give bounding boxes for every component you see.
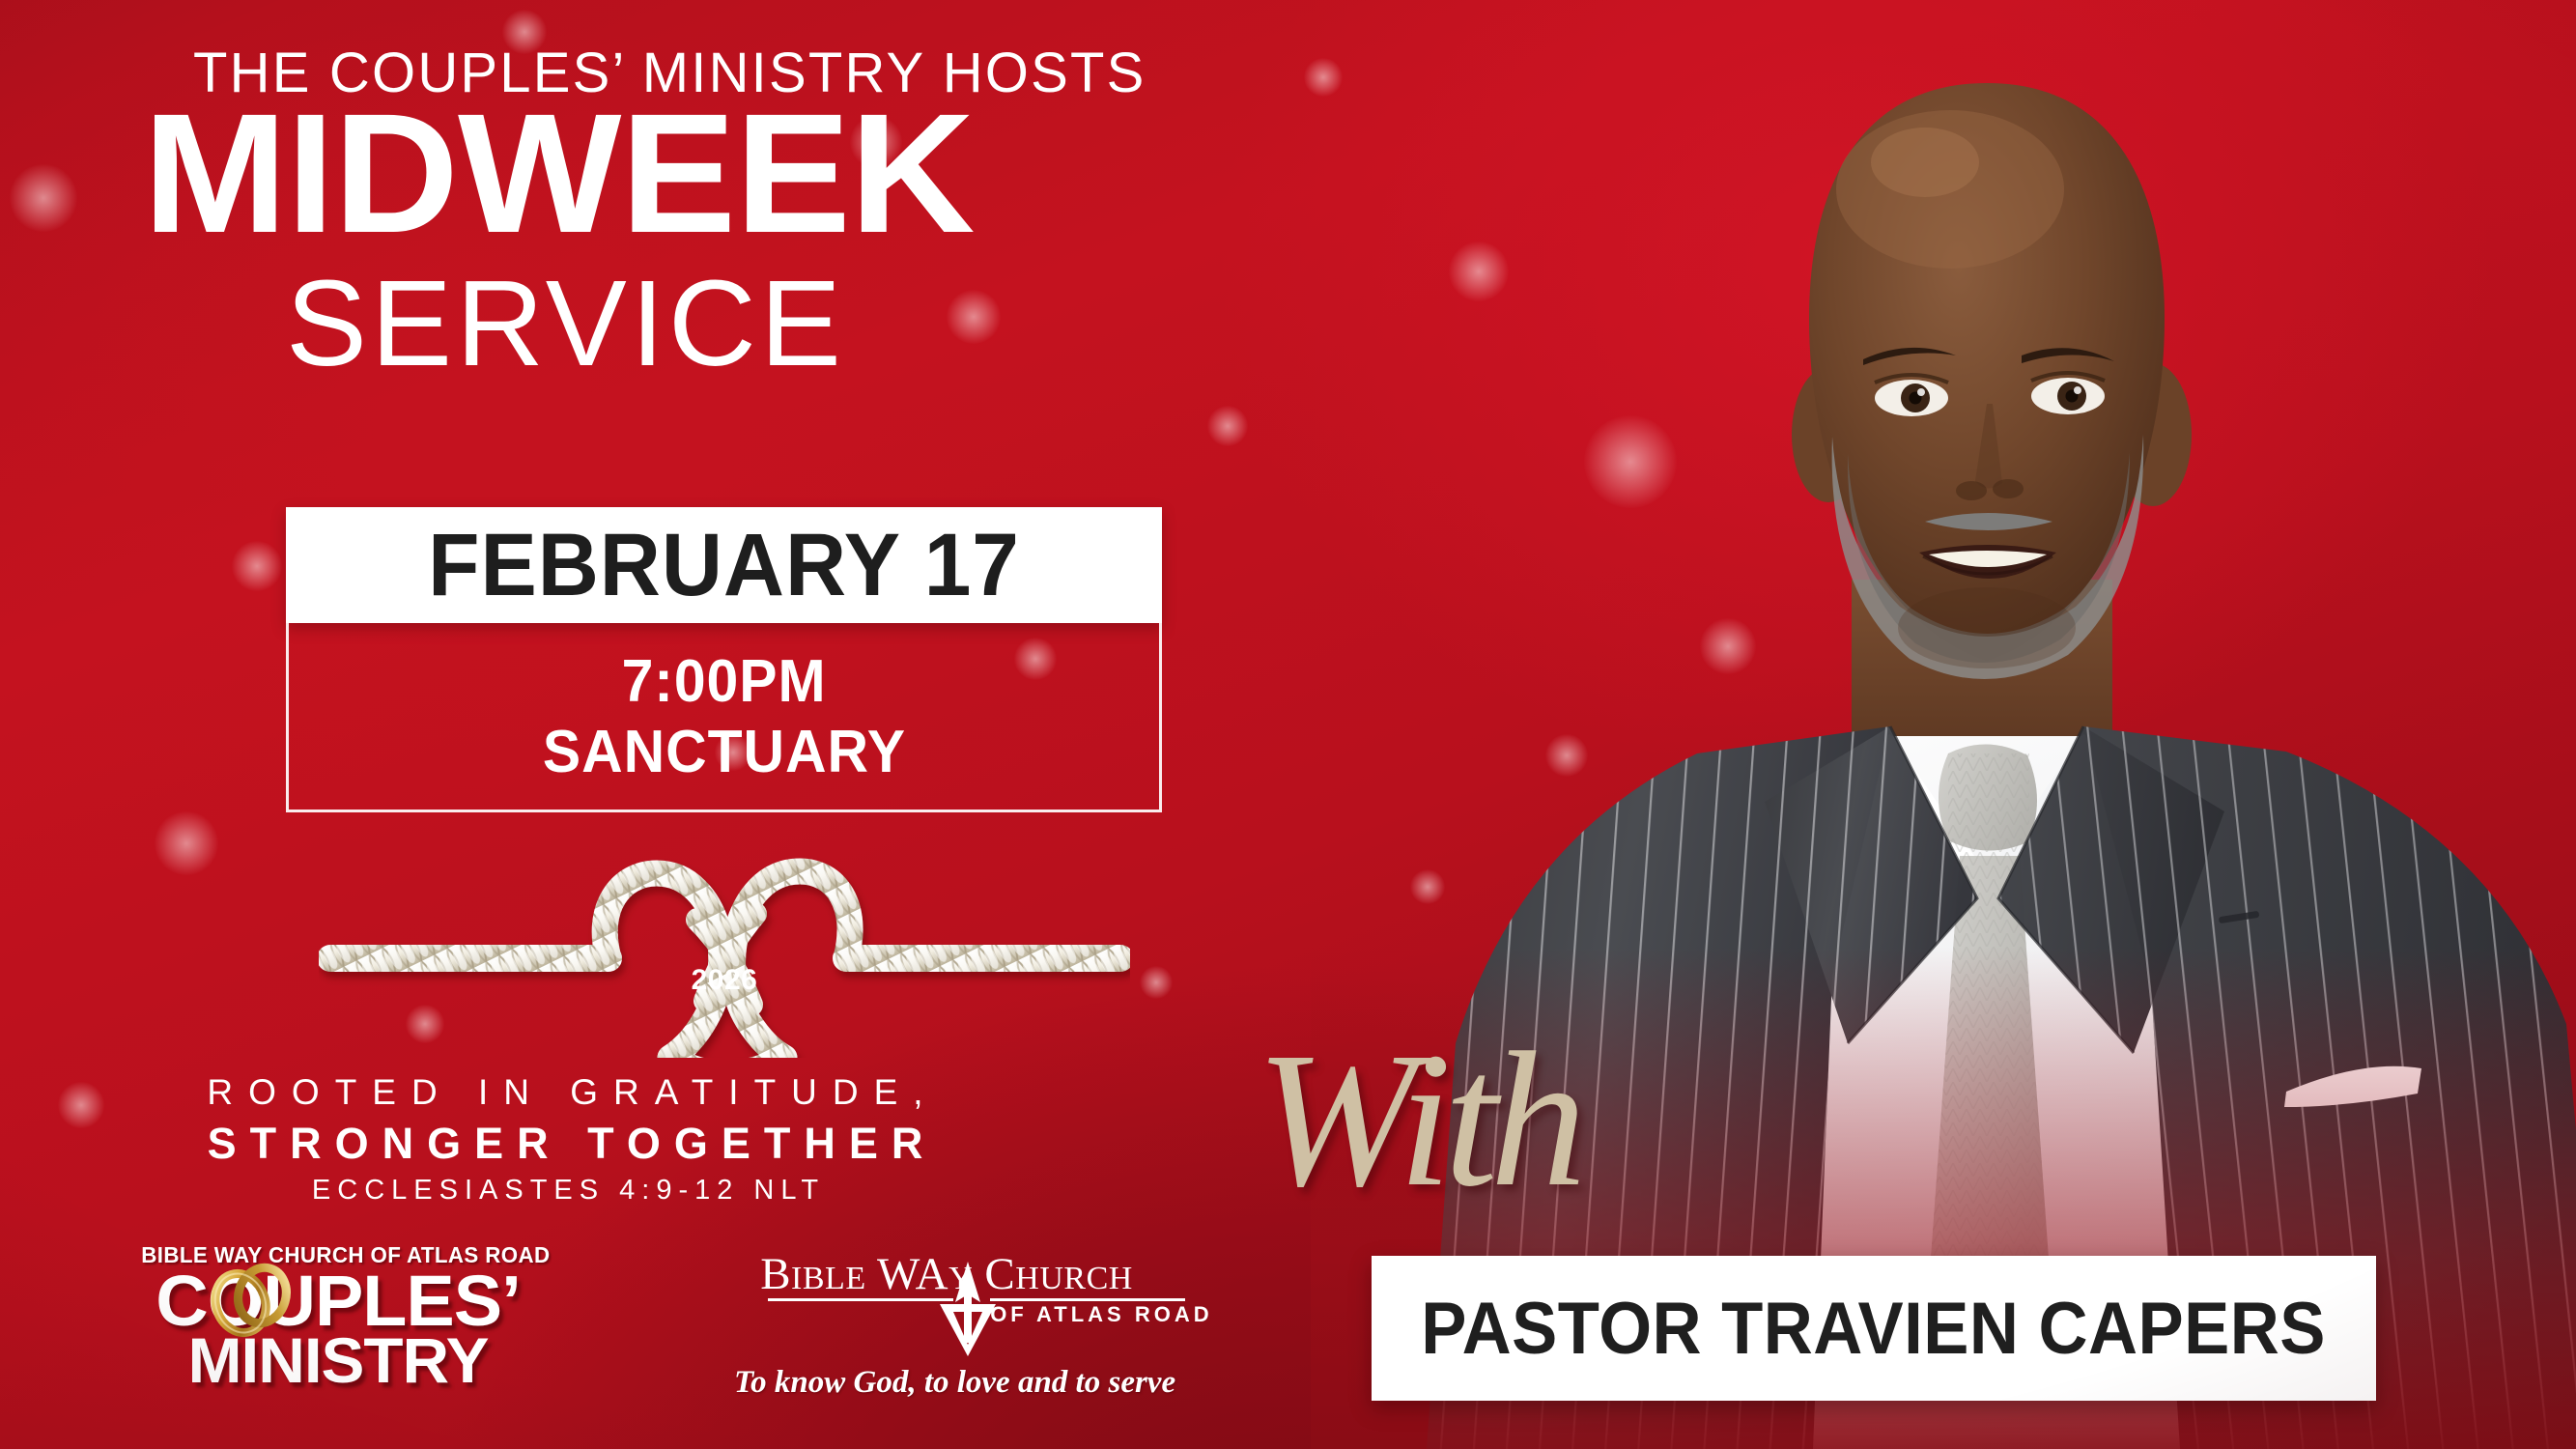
event-flyer: THE COUPLES’ MINISTRY HOSTS MIDWEEK SERV… — [0, 0, 2576, 1449]
couples-ministry-logo: BIBLE WAY CHURCH OF ATLAS ROAD COUPLES’ — [135, 1242, 541, 1392]
speaker-name-banner: PASTOR TRAVIEN CAPERS — [1372, 1256, 2376, 1401]
church-logo-b: B — [760, 1249, 791, 1299]
church-logo-w: W — [877, 1249, 916, 1299]
church-logo-wordmark: BIBLE WAY CHURCH OF ATLAS ROAD — [760, 1252, 1133, 1297]
headline-line-2: SERVICE — [286, 263, 845, 384]
headline-line-1: MIDWEEK — [143, 89, 974, 259]
theme-line-2: STRONGER TOGETHER — [0, 1119, 1130, 1169]
couples-logo-ministry: MINISTRY — [131, 1329, 545, 1392]
time-location-box: 7:00PM SANCTUARY — [286, 623, 1162, 812]
rope-heart-icon: 2026 — [319, 850, 1130, 1058]
church-logo-subline: OF ATLAS ROAD — [990, 1304, 1212, 1325]
church-tagline: To know God, to love and to serve — [734, 1365, 1159, 1401]
event-location: SANCTUARY — [542, 718, 905, 786]
church-logo-hurch: HURCH — [1015, 1261, 1133, 1296]
church-logo-ible: IBLE — [791, 1261, 866, 1296]
bible-way-church-logo: BIBLE WAY CHURCH OF ATLAS ROAD To know G… — [734, 1252, 1159, 1401]
church-logo-rule-right — [990, 1298, 1185, 1301]
theme-line-1: ROOTED IN GRATITUDE, — [0, 1072, 1130, 1113]
church-logo-rule-left — [768, 1298, 953, 1301]
speaker-name: PASTOR TRAVIEN CAPERS — [1422, 1287, 2327, 1371]
event-time: 7:00PM — [622, 647, 827, 716]
pastor-portrait — [1301, 0, 2576, 1449]
flyer-left-column: THE COUPLES’ MINISTRY HOSTS MIDWEEK SERV… — [0, 0, 1352, 1449]
date-band: FEBRUARY 17 — [286, 507, 1162, 623]
with-script-label: With — [1256, 1024, 1579, 1217]
event-date: FEBRUARY 17 — [428, 515, 1020, 616]
cross-arrow-icon — [932, 1256, 1004, 1360]
scripture-reference: ECCLESIASTES 4:9-12 NLT — [0, 1175, 1130, 1207]
